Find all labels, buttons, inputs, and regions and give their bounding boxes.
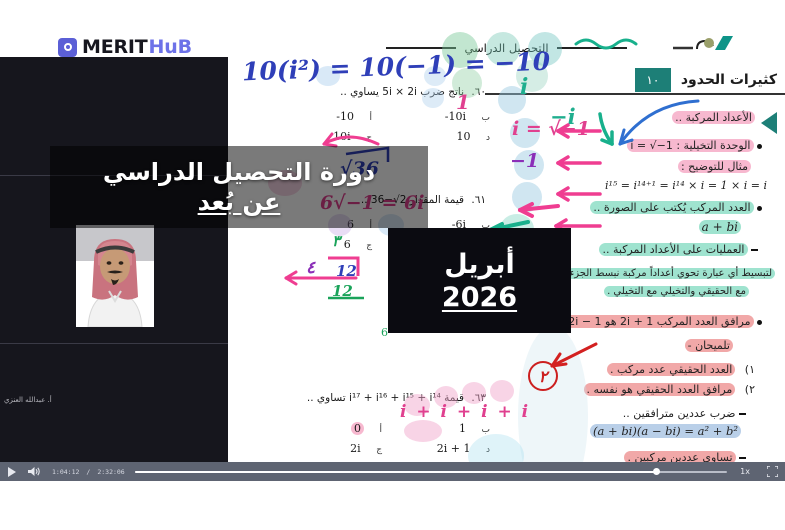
bullet-text-1: مثال للتوضيح :: [678, 160, 751, 173]
page-background-bottom: [0, 481, 785, 530]
time-separator: /: [86, 468, 90, 476]
bullet-text-13: (a + bi)(a − bi) = a² + b²: [590, 424, 741, 438]
screen-root: التحصيل الدراسي كثيرات الحدود ١٠ الأعداد…: [0, 0, 785, 530]
chapter-title: كثيرات الحدود: [681, 72, 777, 88]
option-value: 2i + 1: [437, 442, 471, 455]
question-2-option-1[interactable]: ب 1: [459, 422, 490, 435]
bullet-row-4: a + bi: [699, 220, 741, 235]
bullet-row-8: مرافق العدد المركب 2i + 1 هو 2i − 1: [565, 314, 767, 329]
bullet-dot-icon: [757, 206, 762, 211]
bullet-row-11: ٢) مرافق العدد الحقيقي هو نفسه .: [584, 382, 755, 397]
course-title-line2: عن بُعد: [198, 187, 281, 217]
presenter-photo: [76, 225, 154, 327]
bullet-row-0: الوحدة التخيلية : i = √−1: [627, 138, 767, 153]
section-triangle-icon: [761, 112, 777, 134]
question-2-option-0[interactable]: أ 0: [351, 422, 382, 435]
option-label: د: [486, 133, 490, 143]
dash-marker-icon: [739, 457, 746, 458]
option-label: أ: [369, 113, 372, 123]
dash-marker-icon: [751, 249, 758, 250]
play-button[interactable]: [0, 462, 22, 481]
bullet-row-10: ١) العدد الحقيقي عدد مركب .: [607, 362, 755, 377]
brand-name-primary: MERIT: [82, 36, 148, 58]
question-2-number: ٦٣.: [471, 392, 486, 404]
section-title-row: الأعداد المركبة ..: [672, 110, 755, 125]
video-divider-bottom: [0, 343, 228, 344]
bullet-row-5: العمليات على الأعداد المركبة ..: [599, 242, 763, 257]
question-0-option-3[interactable]: د 10: [456, 130, 490, 143]
bullet-row-1: مثال للتوضيح :: [678, 159, 751, 174]
option-value: 10i: [333, 130, 351, 143]
question-0-option-0[interactable]: أ 10-: [336, 110, 372, 123]
bullet-text-8: مرافق العدد المركب 2i + 1 هو 2i − 1: [565, 315, 753, 328]
option-value: 10: [456, 130, 470, 143]
course-title-overlay: دورة التحصيل الدراسي عن بُعد: [50, 146, 428, 228]
bullet-row-12: ضرب عددين مترافقين ..: [623, 406, 751, 421]
bullet-text-3: العدد المركب يُكتب على الصورة ..: [590, 201, 753, 214]
teal-chevron-logo-icon: [673, 33, 737, 55]
bullet-dot-icon: [757, 320, 762, 325]
question-2-option-2[interactable]: ج 2i: [350, 442, 382, 455]
total-duration: 2:32:06: [97, 468, 124, 476]
bullet-row-13: (a + bi)(a − bi) = a² + b²: [590, 424, 741, 439]
bullet-row-9: تلميحان -: [685, 338, 733, 353]
course-date-overlay: أبريل 2026: [388, 228, 571, 333]
bullet-text-7: مع الحقيقي والتخيلي مع التخيلي .: [604, 286, 749, 297]
playback-speed-button[interactable]: 1x: [731, 467, 759, 476]
question-0-prompt: ٦٠. ناتج ضرب 5i × 2i يساوي ..: [340, 86, 486, 98]
top-white-bar: [0, 0, 785, 26]
bullet-dot-icon: [757, 144, 762, 149]
seek-handle[interactable]: [653, 468, 660, 475]
bullet-row-7: مع الحقيقي والتخيلي مع التخيلي .: [604, 284, 749, 299]
bullet-text-2: i¹⁵ = i¹⁴⁺¹ = i¹⁴ × i = 1 × i = i: [605, 179, 767, 192]
bullet-row-2: i¹⁵ = i¹⁴⁺¹ = i¹⁴ × i = 1 × i = i: [605, 178, 767, 193]
bullet-text-9: تلميحان -: [685, 339, 733, 352]
option-value: 10i-: [445, 110, 466, 123]
bullet-text-10: العدد الحقيقي عدد مركب .: [607, 363, 735, 376]
chapter-number: ١٠: [635, 68, 671, 92]
chapter-divider: [485, 93, 785, 95]
option-label: ج: [376, 445, 382, 455]
current-time: 1:04:12: [52, 468, 79, 476]
bullet-text-6: لتبسيط أي عبارة تحوي أعداداً مركبة نبسط …: [567, 268, 775, 279]
presenter-name-label: أ. عبدالله العنزي: [4, 396, 52, 404]
question-0-number: ٦٠.: [471, 86, 486, 98]
bullet-text-5: العمليات على الأعداد المركبة ..: [599, 243, 747, 256]
seek-bar[interactable]: [135, 462, 727, 481]
question-1-number: ٦١.: [471, 194, 486, 206]
option-label: ب: [482, 425, 490, 435]
brand-name-secondary: HuB: [149, 36, 192, 58]
option-label: د: [486, 445, 490, 455]
time-display: 1:04:12 / 2:32:06: [46, 468, 131, 476]
question-0-option-2[interactable]: ج 10i: [333, 130, 372, 143]
bullet-text-4: a + bi: [699, 220, 741, 234]
list-number-11: ٢): [745, 383, 755, 396]
option-value: 0: [351, 422, 364, 435]
list-number-10: ١): [745, 363, 755, 376]
merithub-logo[interactable]: MERIT HuB: [58, 36, 192, 58]
option-value: 6: [344, 238, 351, 251]
question-0-option-1[interactable]: ب 10i-: [445, 110, 490, 123]
option-label: ج: [366, 133, 372, 143]
option-value: 2i: [350, 442, 361, 455]
question-2-text: قيمة i¹⁷ + i¹⁶ + i¹⁵ + i¹⁴ تساوي ..: [307, 392, 464, 404]
question-1-option-2[interactable]: ج 6: [344, 238, 372, 251]
bullet-text-12: ضرب عددين مترافقين ..: [623, 407, 736, 420]
option-label: ب: [482, 113, 490, 123]
option-value: 10-: [336, 110, 354, 123]
merit-circle-icon: [58, 38, 77, 57]
seek-fill: [135, 471, 656, 473]
bullet-row-3: العدد المركب يُكتب على الصورة ..: [590, 200, 767, 215]
section-title: الأعداد المركبة ..: [672, 111, 755, 124]
fullscreen-button[interactable]: [759, 462, 785, 481]
question-0-text: ناتج ضرب 5i × 2i يساوي ..: [340, 86, 464, 98]
video-player-controls[interactable]: 1:04:12 / 2:32:06 1x: [0, 462, 785, 481]
option-label: ج: [366, 241, 372, 251]
course-date-month: أبريل: [444, 248, 514, 281]
volume-icon: [28, 466, 41, 477]
bullet-row-6: لتبسيط أي عبارة تحوي أعداداً مركبة نبسط …: [567, 266, 775, 281]
chapter-header: كثيرات الحدود ١٠: [635, 68, 777, 92]
option-value: 1: [459, 422, 466, 435]
fullscreen-icon: [767, 466, 778, 477]
option-label: أ: [379, 425, 382, 435]
presenter-avatar-icon: [76, 225, 154, 327]
volume-button[interactable]: [22, 462, 46, 481]
course-title-line1: دورة التحصيل الدراسي: [103, 157, 375, 187]
dash-marker-icon: [739, 413, 746, 414]
play-icon: [7, 467, 16, 477]
presenter-video-pane[interactable]: أ. عبدالله العنزي: [0, 57, 228, 466]
bullet-text-11: مرافق العدد الحقيقي هو نفسه .: [584, 383, 736, 396]
question-2-option-3[interactable]: د 2i + 1: [437, 442, 490, 455]
bullet-text-0: الوحدة التخيلية : i = √−1: [627, 139, 753, 152]
course-date-year: 2026: [442, 281, 517, 314]
question-2-prompt: ٦٣. قيمة i¹⁷ + i¹⁶ + i¹⁵ + i¹⁴ تساوي ..: [307, 392, 486, 404]
mid-option-a: 6: [381, 326, 388, 339]
